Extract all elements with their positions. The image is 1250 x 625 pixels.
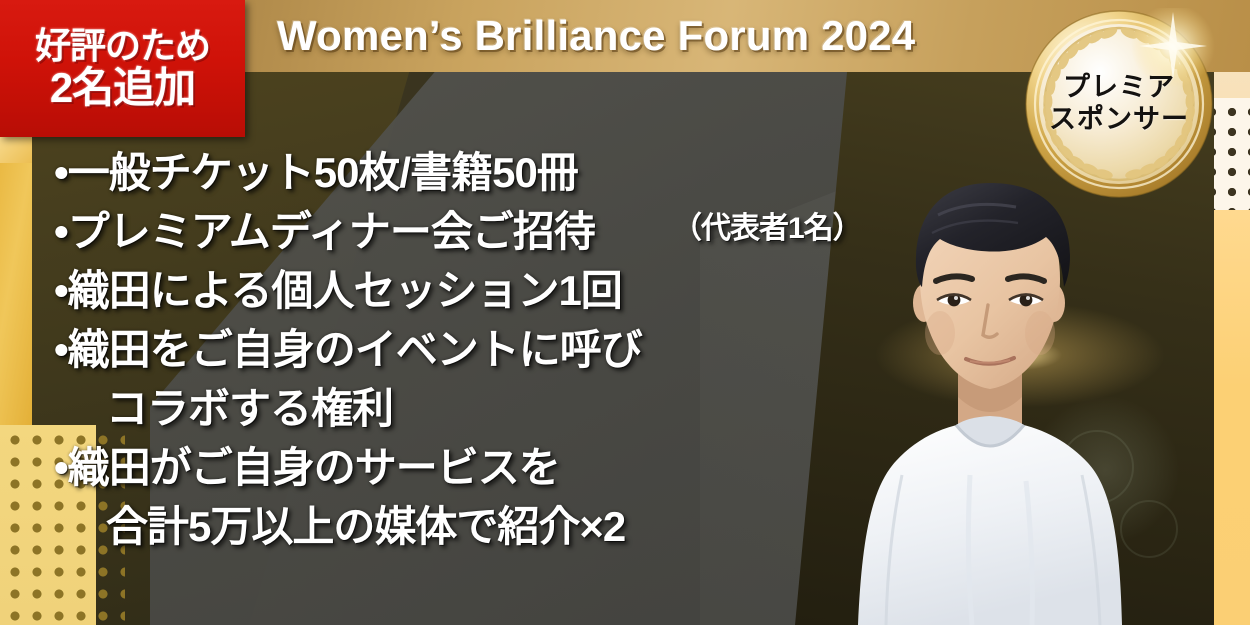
premium-sponsor-medal: プレミア スポンサー xyxy=(1023,8,1215,200)
left-gold-stripe-highlight xyxy=(0,137,32,163)
red-badge-line1: 好評のため xyxy=(35,27,210,65)
benefit-item-continuation: 合計5万以上の媒体で紹介×2 xyxy=(54,506,894,548)
benefit-item: •一般チケット50枚/書籍50冊 xyxy=(54,152,894,194)
red-badge-line2: 2名追加 xyxy=(50,66,195,110)
promo-banner: Women’s Brilliance Forum 2024 好評のため 2名追加 xyxy=(0,0,1250,625)
benefit-item: •織田をご自身のイベントに呼び xyxy=(54,329,894,371)
benefit-item-continuation: コラボする権利 xyxy=(54,388,894,430)
representative-note: （代表者1名） xyxy=(672,203,862,247)
benefit-item: •織田による個人セッション1回 xyxy=(54,270,894,312)
red-highlight-badge: 好評のため 2名追加 xyxy=(0,0,245,137)
banner-title: Women’s Brilliance Forum 2024 xyxy=(277,12,915,60)
laurel-wreath-medal-icon xyxy=(1023,8,1215,200)
benefit-item: •織田がご自身のサービスを xyxy=(54,447,894,489)
